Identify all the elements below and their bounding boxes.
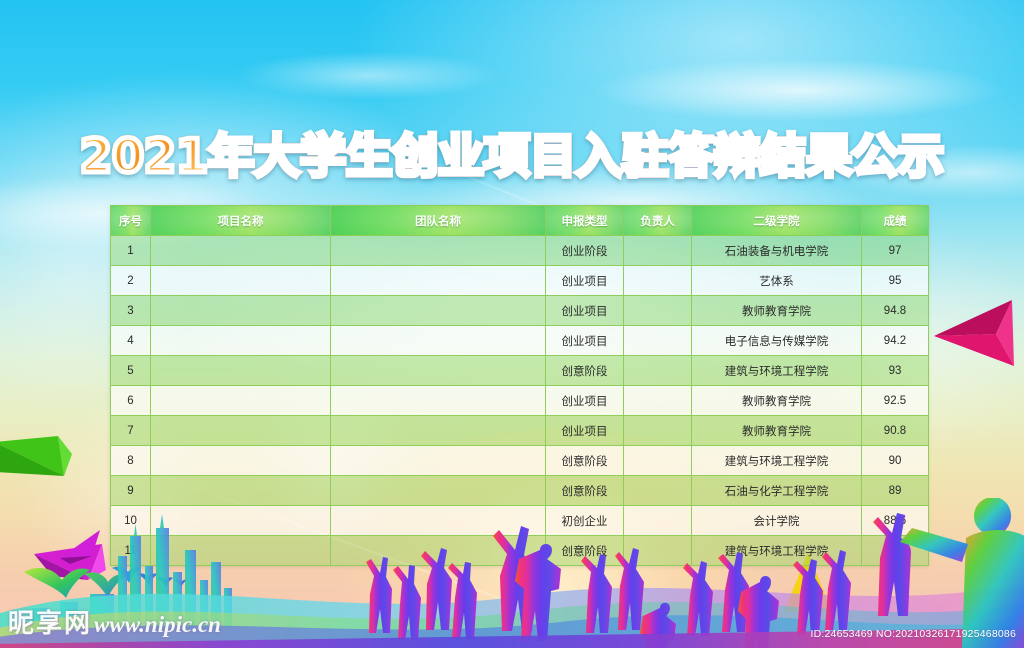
- cell-leader: [624, 356, 692, 386]
- cell-team: [331, 446, 546, 476]
- cell-type: 创业项目: [546, 266, 624, 296]
- results-table: 序号 项目名称 团队名称 申报类型 负责人 二级学院 成绩 1 创业阶段 石油装…: [110, 205, 929, 566]
- cell-index: 7: [111, 416, 151, 446]
- cell-leader: [624, 326, 692, 356]
- table-row: 7 创业项目 教师教育学院 90.8: [111, 416, 929, 446]
- table-row: 1 创业阶段 石油装备与机电学院 97: [111, 236, 929, 266]
- cell-type: 创业阶段: [546, 236, 624, 266]
- image-id-tag: ID:24653469 NO:20210326171925468086: [810, 628, 1016, 640]
- cell-college: 教师教育学院: [692, 296, 862, 326]
- cell-college: 电子信息与传媒学院: [692, 326, 862, 356]
- watermark: 昵享网 www.nipic.cn: [8, 603, 221, 640]
- cell-team: [331, 536, 546, 566]
- cell-project: [151, 326, 331, 356]
- title-part-project: 创业项目入驻: [392, 133, 668, 179]
- cell-type: 创业项目: [546, 326, 624, 356]
- cell-index: 11: [111, 536, 151, 566]
- cell-project: [151, 266, 331, 296]
- cell-team: [331, 236, 546, 266]
- cell-type: 创意阶段: [546, 446, 624, 476]
- cell-project: [151, 236, 331, 266]
- cell-score: 97: [862, 236, 929, 266]
- table-header: 序号 项目名称 团队名称 申报类型 负责人 二级学院 成绩: [111, 206, 929, 236]
- watermark-url: www.nipic.cn: [94, 612, 221, 638]
- cell-index: 1: [111, 236, 151, 266]
- cell-score: 89: [862, 476, 929, 506]
- col-header-index: 序号: [111, 206, 151, 236]
- cell-project: [151, 356, 331, 386]
- watermark-site-name: 昵享网: [8, 603, 92, 640]
- cell-team: [331, 506, 546, 536]
- cell-score: 92.5: [862, 386, 929, 416]
- cell-score: 88.6: [862, 506, 929, 536]
- title-part-result: 结果: [760, 133, 852, 179]
- table-row: 10 初创企业 会计学院 88.6: [111, 506, 929, 536]
- cell-team: [331, 386, 546, 416]
- table-row: 6 创业项目 教师教育学院 92.5: [111, 386, 929, 416]
- cell-leader: [624, 506, 692, 536]
- cell-type: 初创企业: [546, 506, 624, 536]
- title-part-students: 年大学生: [208, 133, 392, 179]
- cell-project: [151, 536, 331, 566]
- cell-college: 建筑与环境工程学院: [692, 356, 862, 386]
- cell-type: 创业项目: [546, 416, 624, 446]
- table-row: 2 创业项目 艺体系 95: [111, 266, 929, 296]
- cell-type: 创意阶段: [546, 536, 624, 566]
- poster-canvas: 2021年大学生创业项目入驻答辩结果公示 序号 项目名称 团队名称 申报类型 负…: [0, 0, 1024, 648]
- poster-title-wrap: 2021年大学生创业项目入驻答辩结果公示: [0, 133, 1024, 179]
- cell-leader: [624, 236, 692, 266]
- cell-type: 创意阶段: [546, 356, 624, 386]
- cell-team: [331, 326, 546, 356]
- cell-project: [151, 386, 331, 416]
- cell-index: 5: [111, 356, 151, 386]
- table-row: 3 创业项目 教师教育学院 94.8: [111, 296, 929, 326]
- table-row: 11 创意阶段 建筑与环境工程学院 84: [111, 536, 929, 566]
- table-row: 4 创业项目 电子信息与传媒学院 94.2: [111, 326, 929, 356]
- cell-team: [331, 416, 546, 446]
- cell-college: 艺体系: [692, 266, 862, 296]
- cell-index: 8: [111, 446, 151, 476]
- cell-index: 4: [111, 326, 151, 356]
- cell-project: [151, 476, 331, 506]
- cell-college: 教师教育学院: [692, 416, 862, 446]
- table-row: 9 创意阶段 石油与化学工程学院 89: [111, 476, 929, 506]
- title-part-defense: 答辩: [668, 133, 760, 179]
- table-header-row: 序号 项目名称 团队名称 申报类型 负责人 二级学院 成绩: [111, 206, 929, 236]
- cell-leader: [624, 416, 692, 446]
- table-body: 1 创业阶段 石油装备与机电学院 97 2 创业项目 艺体系 95: [111, 236, 929, 566]
- cell-score: 95: [862, 266, 929, 296]
- results-table-wrap: 序号 项目名称 团队名称 申报类型 负责人 二级学院 成绩 1 创业阶段 石油装…: [110, 205, 928, 566]
- cell-college: 会计学院: [692, 506, 862, 536]
- cell-score: 84: [862, 536, 929, 566]
- cell-leader: [624, 266, 692, 296]
- cell-leader: [624, 476, 692, 506]
- cell-project: [151, 296, 331, 326]
- cell-index: 10: [111, 506, 151, 536]
- cell-team: [331, 356, 546, 386]
- title-part-year: 2021: [80, 133, 208, 179]
- col-header-college: 二级学院: [692, 206, 862, 236]
- cell-type: 创业项目: [546, 296, 624, 326]
- cell-college: 建筑与环境工程学院: [692, 446, 862, 476]
- cell-index: 3: [111, 296, 151, 326]
- cell-project: [151, 416, 331, 446]
- cell-leader: [624, 386, 692, 416]
- cell-project: [151, 446, 331, 476]
- cell-leader: [624, 446, 692, 476]
- col-header-type: 申报类型: [546, 206, 624, 236]
- cell-leader: [624, 296, 692, 326]
- cell-type: 创意阶段: [546, 476, 624, 506]
- col-header-team: 团队名称: [331, 206, 546, 236]
- cell-team: [331, 476, 546, 506]
- cell-score: 90.8: [862, 416, 929, 446]
- cell-score: 90: [862, 446, 929, 476]
- title-part-announce: 公示: [852, 133, 944, 179]
- col-header-leader: 负责人: [624, 206, 692, 236]
- cell-college: 石油与化学工程学院: [692, 476, 862, 506]
- cell-index: 2: [111, 266, 151, 296]
- cell-college: 教师教育学院: [692, 386, 862, 416]
- cell-score: 94.2: [862, 326, 929, 356]
- cell-college: 建筑与环境工程学院: [692, 536, 862, 566]
- cell-index: 6: [111, 386, 151, 416]
- cell-leader: [624, 536, 692, 566]
- cell-index: 9: [111, 476, 151, 506]
- cell-type: 创业项目: [546, 386, 624, 416]
- table-row: 8 创意阶段 建筑与环境工程学院 90: [111, 446, 929, 476]
- cell-team: [331, 266, 546, 296]
- poster-title: 2021年大学生创业项目入驻答辩结果公示: [80, 133, 944, 179]
- table-row: 5 创意阶段 建筑与环境工程学院 93: [111, 356, 929, 386]
- col-header-project: 项目名称: [151, 206, 331, 236]
- cell-score: 94.8: [862, 296, 929, 326]
- cell-team: [331, 296, 546, 326]
- cell-project: [151, 506, 331, 536]
- cell-college: 石油装备与机电学院: [692, 236, 862, 266]
- col-header-score: 成绩: [862, 206, 929, 236]
- cell-score: 93: [862, 356, 929, 386]
